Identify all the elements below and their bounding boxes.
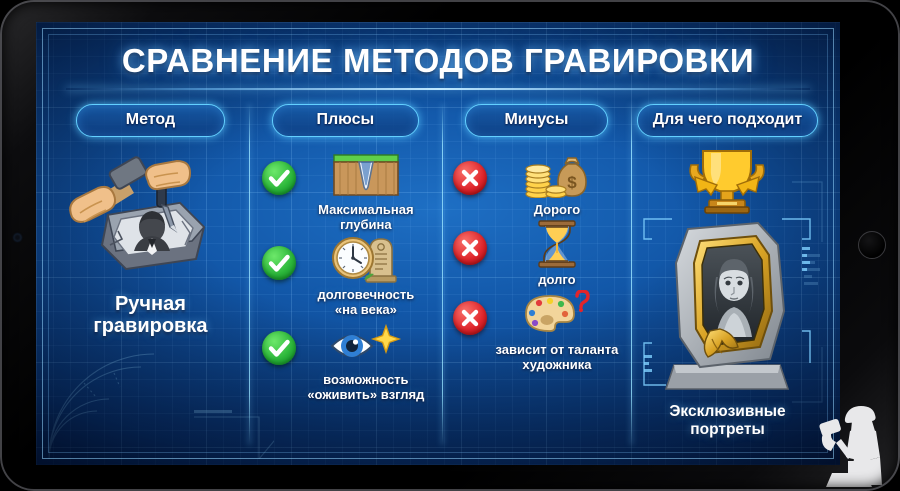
pros-list: Максимальнаяглубина: [249, 149, 442, 451]
trophy-icon: [685, 143, 769, 217]
list-item: возможность«оживить» взгляд: [249, 319, 442, 402]
column-header-method[interactable]: Метод: [76, 104, 226, 137]
list-item: Максимальнаяглубина: [249, 149, 442, 232]
list-item: зависит от талантахудожника: [442, 289, 631, 372]
column-header-suited-for[interactable]: Для чего подходит: [637, 104, 818, 137]
column-pros: Плюсы: [249, 100, 442, 451]
comparison-table: Метод: [52, 100, 824, 451]
list-item-label: долговечность«на века»: [317, 287, 414, 317]
money-bag-coins-icon: $: [520, 149, 594, 199]
front-camera-icon: [14, 234, 21, 241]
clock-tombstone-icon: [330, 234, 402, 284]
method-label: Ручнаягравировка: [93, 293, 207, 338]
list-item: долго: [442, 219, 631, 287]
cross-icon: [453, 301, 487, 335]
cross-icon: [453, 231, 487, 265]
column-method: Метод: [52, 100, 249, 451]
groove-depth-icon: [332, 149, 400, 199]
screen: СРАВНЕНИЕ МЕТОДОВ ГРАВИРОВКИ Метод: [36, 22, 840, 465]
page-title: СРАВНЕНИЕ МЕТОДОВ ГРАВИРОВКИ: [36, 42, 840, 80]
list-item: долговечность«на века»: [249, 234, 442, 317]
hand-hammer-chisel-stone-icon: [64, 153, 236, 283]
memorial-stone-portrait-icon: [652, 219, 802, 397]
list-item-label: возможность«оживить» взгляд: [307, 372, 424, 402]
column-header-pros[interactable]: Плюсы: [272, 104, 419, 137]
check-icon: [262, 246, 296, 280]
hourglass-icon: [535, 219, 579, 269]
tablet-device: СРАВНЕНИЕ МЕТОДОВ ГРАВИРОВКИ Метод: [0, 0, 900, 491]
list-item-label: Дорого: [534, 202, 580, 217]
svg-text:$: $: [567, 173, 577, 192]
eye-sparkle-icon: [328, 319, 404, 369]
column-suited-for: Для чего подходит: [631, 100, 824, 451]
check-icon: [262, 331, 296, 365]
title-divider: [66, 88, 810, 90]
column-header-cons[interactable]: Минусы: [465, 104, 609, 137]
cross-icon: [453, 161, 487, 195]
palette-question-icon: [520, 289, 594, 339]
suited-for-label: Эксклюзивныепортреты: [669, 403, 785, 439]
list-item-label: долго: [538, 272, 575, 287]
list-item-label: зависит от талантахудожника: [496, 342, 619, 372]
column-cons: Минусы $: [442, 100, 631, 451]
check-icon: [262, 161, 296, 195]
cons-list: $: [442, 149, 631, 451]
list-item: $: [442, 149, 631, 217]
stonemason-logo-icon: [802, 399, 894, 491]
list-item-label: Максимальнаяглубина: [318, 202, 413, 232]
home-button[interactable]: [858, 231, 886, 259]
